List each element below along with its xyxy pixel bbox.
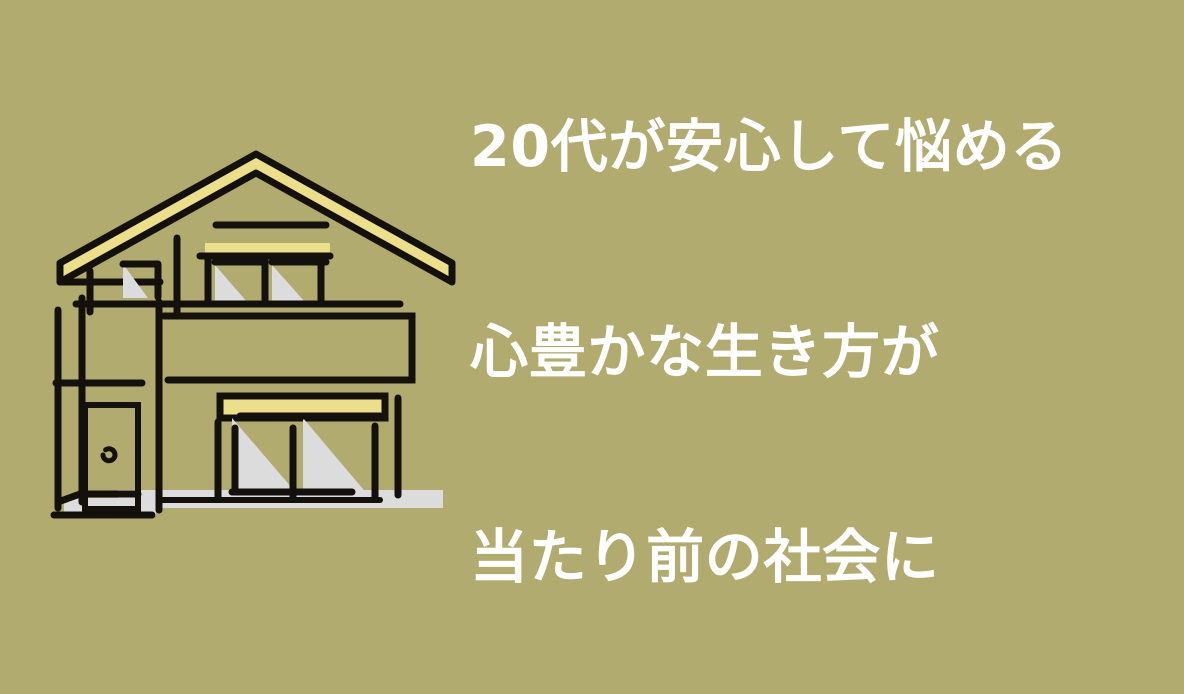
door-knob: [103, 449, 115, 461]
headline-line-3: 当たり前の社会に: [470, 527, 940, 588]
ground-floor-window-left-pane: [232, 418, 298, 495]
headline-line-1: 20代が安心して悩める: [470, 118, 1068, 178]
headline-block: 20代が安心して悩める 心豊かな生き方が 当たり前の社会に: [470, 118, 1130, 588]
first-floor-facade: [164, 316, 412, 380]
ground-floor-window-right-pane: [303, 418, 368, 495]
house-illustration: [40, 150, 460, 550]
upper-floor-windows: [200, 225, 330, 302]
house-illustration-container: [40, 150, 460, 550]
headline-line-2: 心豊かな生き方が: [470, 322, 940, 383]
upper-floor-window-right: [272, 265, 305, 302]
banner-root: 20代が安心して悩める 心豊かな生き方が 当たり前の社会に: [0, 0, 1184, 694]
upper-floor-window-left: [215, 265, 247, 302]
ground-floor-window: [218, 396, 398, 498]
